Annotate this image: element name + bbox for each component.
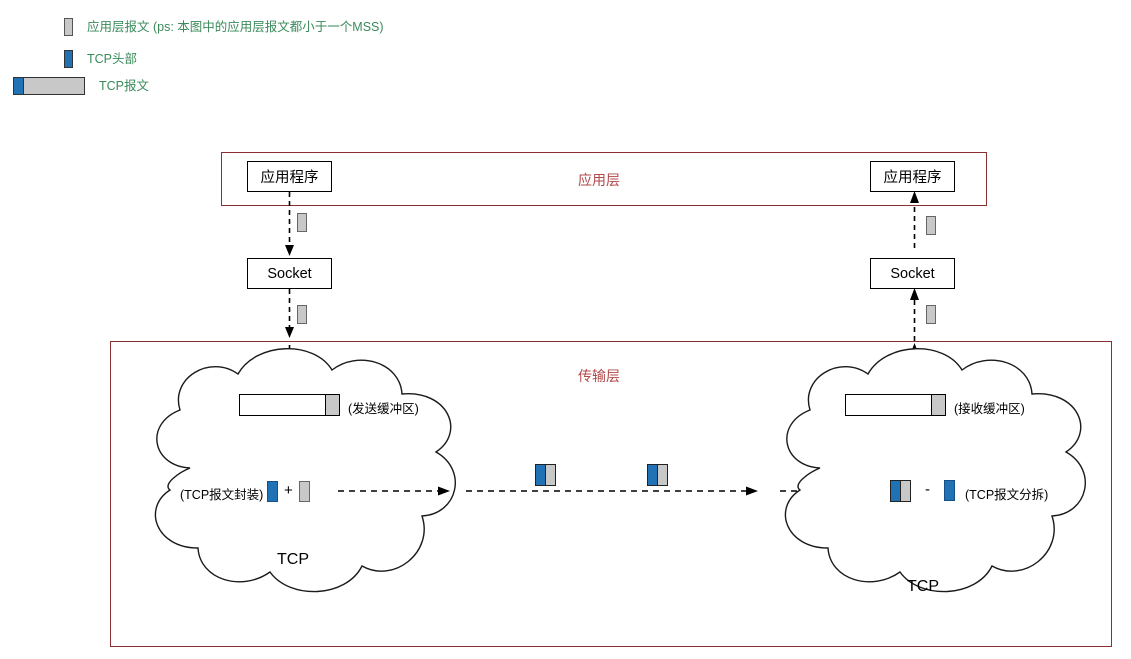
right-received-segment (890, 480, 911, 502)
received-segment-header (891, 481, 900, 501)
right-minus-operator: - (925, 481, 930, 498)
receive-buffer-free-space (846, 395, 931, 415)
received-segment-payload (900, 481, 910, 501)
right-cloud-title: TCP (907, 578, 939, 596)
right-receive-buffer (845, 394, 946, 416)
diagram-canvas: 应用层报文 (ps: 本图中的应用层报文都小于一个MSS) TCP头部 TCP报… (0, 0, 1131, 659)
right-receive-buffer-label: (接收缓冲区) (954, 398, 1025, 417)
right-tcp-header-block (944, 480, 955, 501)
right-app-message-block-2 (926, 305, 936, 324)
receive-buffer-occupied-space (931, 395, 945, 415)
right-decapsulation-label: (TCP报文分拆) (965, 484, 1048, 503)
right-app-message-block-1 (926, 216, 936, 235)
